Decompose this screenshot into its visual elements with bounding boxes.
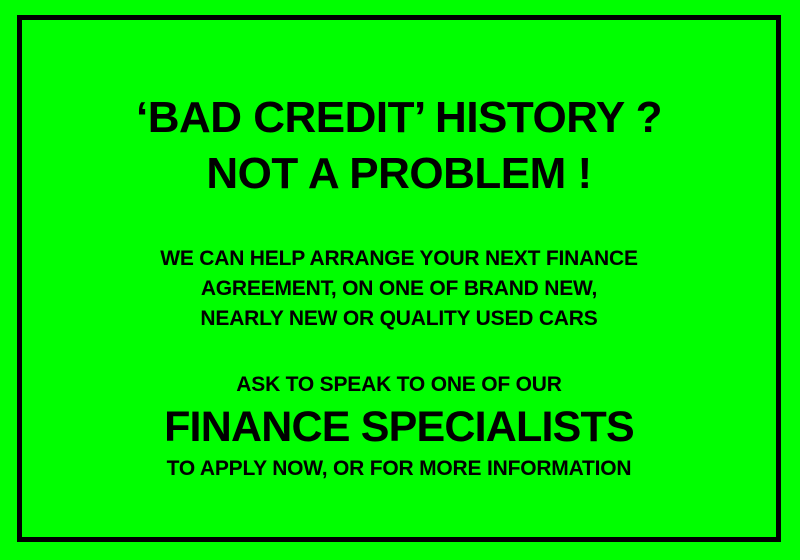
cta-lead-in-text: ASK TO SPEAK TO ONE OF OUR: [22, 370, 776, 400]
call-to-action-block: ASK TO SPEAK TO ONE OF OUR FINANCE SPECI…: [22, 370, 776, 484]
poster-content: ‘BAD CREDIT’ HISTORY ? NOT A PROBLEM ! W…: [22, 20, 776, 537]
headline-block: ‘BAD CREDIT’ HISTORY ? NOT A PROBLEM !: [22, 90, 776, 202]
advert-poster: ‘BAD CREDIT’ HISTORY ? NOT A PROBLEM ! W…: [0, 0, 800, 560]
body-copy-line-1: WE CAN HELP ARRANGE YOUR NEXT FINANCE: [22, 244, 776, 274]
cta-footer-text: TO APPLY NOW, OR FOR MORE INFORMATION: [22, 454, 776, 484]
cta-headline: FINANCE SPECIALISTS: [22, 400, 776, 454]
body-copy-line-2: AGREEMENT, ON ONE OF BRAND NEW,: [22, 274, 776, 304]
body-copy-block: WE CAN HELP ARRANGE YOUR NEXT FINANCE AG…: [22, 244, 776, 334]
headline-line-1: ‘BAD CREDIT’ HISTORY ?: [22, 90, 776, 146]
headline-line-2: NOT A PROBLEM !: [22, 146, 776, 202]
body-copy-line-3: NEARLY NEW OR QUALITY USED CARS: [22, 304, 776, 334]
